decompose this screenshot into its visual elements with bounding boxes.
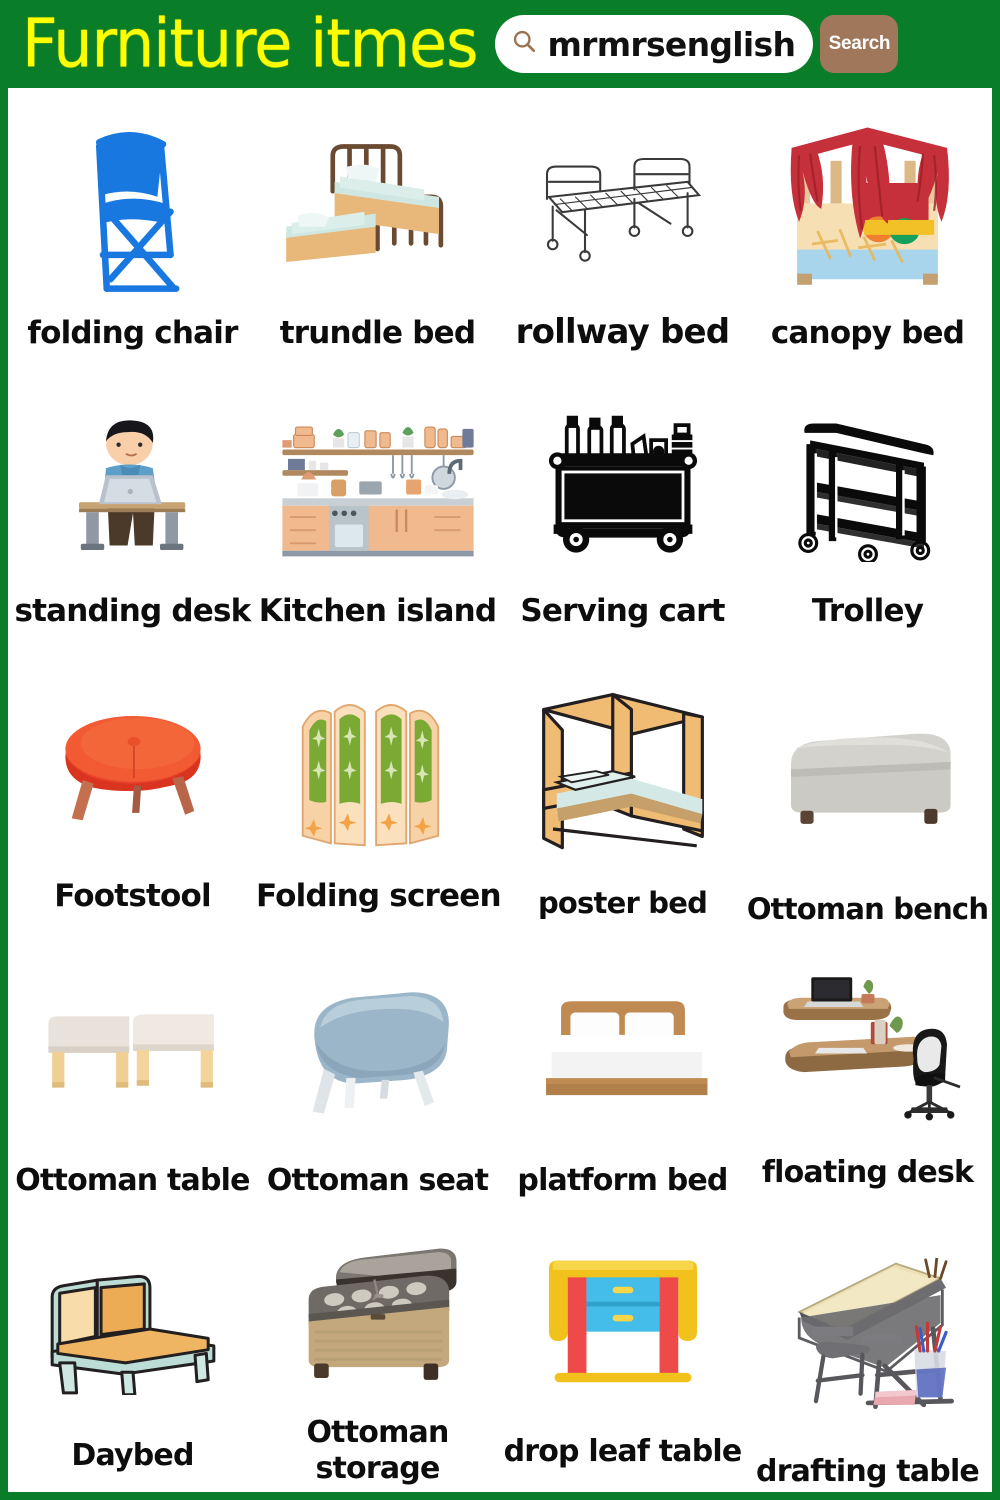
ottoman-storage-illustration [255,1210,500,1415]
grid-item-folding-screen[interactable]: Folding screen [255,651,500,931]
item-label: Daybed [10,1441,255,1490]
item-label: floating desk [745,1158,990,1211]
item-label: drafting table [745,1457,990,1490]
folding-chair-illustration [10,92,255,318]
grid-item-floating-desk[interactable]: floating desk [745,931,990,1211]
poster-header: Furniture itmes mrmrsenglish Search [8,0,992,88]
search-input-value: mrmrsenglish [547,25,795,64]
ottoman-seat-illustration [255,931,500,1166]
footstool-illustration [10,651,255,881]
standing-desk-illustration [10,372,255,596]
item-label: rollway bed [500,315,745,372]
grid-item-rollway-bed[interactable]: rollway bed [500,92,745,372]
ottoman-table-illustration [10,931,255,1166]
item-label: Ottoman bench [745,895,990,931]
grid-item-ottoman-bench[interactable]: Ottoman bench [745,651,990,931]
grid-item-ottoman-table[interactable]: Ottoman table [10,931,255,1211]
grid-item-ottoman-seat[interactable]: Ottoman seat [255,931,500,1211]
page-title: Furniture itmes [22,11,477,78]
grid-item-trolley[interactable]: Trolley [745,372,990,652]
grid-item-ottoman-storage[interactable]: Ottoman storage [255,1210,500,1490]
floating-desk-illustration [745,931,990,1158]
grid-item-drafting-table[interactable]: drafting table [745,1210,990,1490]
grid-item-serving-cart[interactable]: Serving cart [500,372,745,652]
item-label: Footstool [10,881,255,931]
item-label: canopy bed [745,318,990,372]
item-label: poster bed [500,889,745,931]
item-label: Ottoman table [10,1166,255,1211]
item-label: drop leaf table [500,1437,745,1490]
item-label: folding chair [10,318,255,372]
serving-cart-illustration [500,372,745,596]
daybed-illustration [10,1210,255,1441]
ottoman-bench-illustration [745,651,990,895]
grid-item-footstool[interactable]: Footstool [10,651,255,931]
drafting-table-illustration [745,1210,990,1457]
grid-item-kitchen-island[interactable]: Kitchen island [255,372,500,652]
rollway-bed-illustration [500,92,745,315]
grid-item-platform-bed[interactable]: platform bed [500,931,745,1211]
grid-item-poster-bed[interactable]: poster bed [500,651,745,931]
search-bar: mrmrsenglish Search [495,15,898,73]
folding-screen-illustration [255,651,500,881]
item-label: Kitchen island [255,596,500,652]
item-label: Serving cart [500,596,745,652]
grid-item-canopy-bed[interactable]: canopy bed [745,92,990,372]
item-label: Trolley [745,596,990,652]
item-label: Ottoman seat [255,1166,500,1211]
grid-item-trundle-bed[interactable]: trundle bed [255,92,500,372]
trolley-illustration [745,372,990,596]
kitchen-island-illustration [255,372,500,596]
item-label: Folding screen [255,881,500,931]
grid-item-daybed[interactable]: Daybed [10,1210,255,1490]
grid-item-folding-chair[interactable]: folding chair [10,92,255,372]
platform-bed-illustration [500,931,745,1166]
item-label: platform bed [500,1166,745,1211]
drop-leaf-table-illustration [500,1210,745,1437]
item-label: standing desk [10,596,255,652]
search-button[interactable]: Search [820,15,898,73]
poster-bed-illustration [500,651,745,889]
furniture-vocabulary-poster: Furniture itmes mrmrsenglish Search [0,0,1000,1500]
canopy-bed-illustration [745,92,990,318]
search-icon [511,28,538,60]
grid-item-drop-leaf-table[interactable]: drop leaf table [500,1210,745,1490]
items-grid: folding chair [8,88,992,1492]
search-input[interactable]: mrmrsenglish [495,15,813,73]
trundle-bed-illustration [255,92,500,318]
item-label: Ottoman storage [255,1415,500,1490]
item-label: trundle bed [255,318,500,372]
grid-item-standing-desk[interactable]: standing desk [10,372,255,652]
